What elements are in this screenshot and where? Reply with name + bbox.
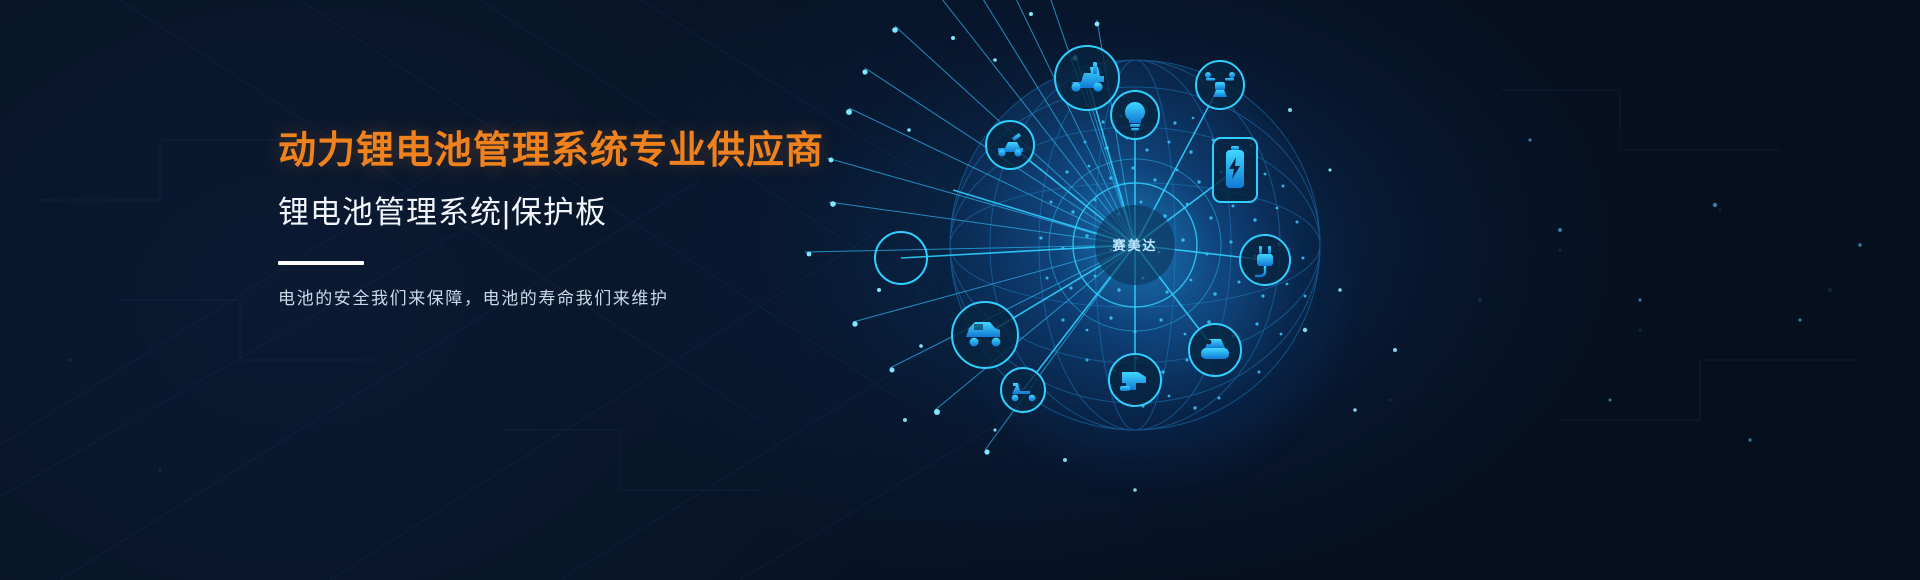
hero-banner: 动力锂电池管理系统专业供应商 锂电池管理系统|保护板 电池的安全我们来保障，电池… xyxy=(0,0,1920,580)
right-particles xyxy=(1500,0,1920,580)
node-ebike-icon xyxy=(986,121,1034,169)
page-subtitle: 锂电池管理系统|保护板 xyxy=(278,197,898,228)
node-battery-icon xyxy=(1213,138,1257,202)
globe-hub-label: 赛美达 xyxy=(1111,238,1157,253)
page-tagline: 电池的安全我们来保障，电池的寿命我们来维护 xyxy=(278,290,898,307)
node-scooter-small-icon xyxy=(1001,368,1045,412)
node-powertool-icon xyxy=(1109,354,1161,406)
node-robot-icon xyxy=(1189,324,1241,376)
hero-copy: 动力锂电池管理系统专业供应商 锂电池管理系统|保护板 电池的安全我们来保障，电池… xyxy=(278,132,898,307)
node-drone-icon xyxy=(1196,61,1244,109)
node-lightbulb-icon xyxy=(1111,91,1159,139)
page-title: 动力锂电池管理系统专业供应商 xyxy=(278,132,898,170)
node-car-icon xyxy=(952,302,1018,368)
globe-graphic: 赛美达 xyxy=(835,0,1475,580)
title-divider xyxy=(278,261,364,265)
node-scooter-icon xyxy=(1055,46,1119,110)
node-charger-icon xyxy=(1240,235,1290,285)
